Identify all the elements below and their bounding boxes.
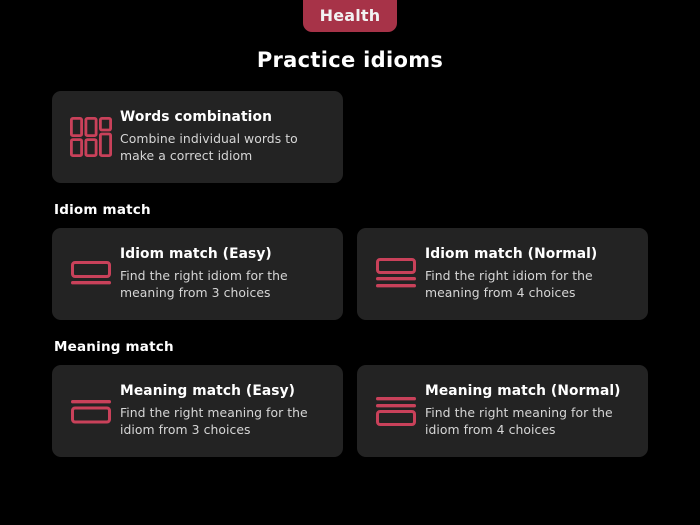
card-meaning-match-normal[interactable]: Meaning match (Normal) Find the right me…: [357, 365, 648, 457]
card-text-block: Meaning match (Normal) Find the right me…: [421, 383, 632, 438]
content-area: Words combination Combine individual wor…: [0, 91, 700, 457]
section-idiom-match: Idiom match Idiom match (Easy) Find the …: [52, 202, 648, 320]
card-grid-words-combination: Words combination Combine individual wor…: [52, 91, 648, 183]
section-heading-meaning-match: Meaning match: [54, 339, 648, 355]
idiom-match-easy-icon: [66, 261, 116, 287]
card-meaning-match-easy[interactable]: Meaning match (Easy) Find the right mean…: [52, 365, 343, 457]
card-text-block: Words combination Combine individual wor…: [116, 109, 327, 164]
card-title: Words combination: [120, 109, 327, 126]
card-idiom-match-normal[interactable]: Idiom match (Normal) Find the right idio…: [357, 228, 648, 320]
section-heading-idiom-match: Idiom match: [54, 202, 648, 218]
card-grid-idiom-match: Idiom match (Easy) Find the right idiom …: [52, 228, 648, 320]
card-title: Meaning match (Easy): [120, 383, 327, 400]
card-title: Idiom match (Easy): [120, 246, 327, 263]
card-description: Find the right meaning for the idiom fro…: [425, 404, 632, 439]
category-badge-row: Health: [0, 0, 700, 32]
card-idiom-match-easy[interactable]: Idiom match (Easy) Find the right idiom …: [52, 228, 343, 320]
idiom-match-normal-icon: [371, 258, 421, 290]
card-description: Find the right meaning for the idiom fro…: [120, 404, 327, 439]
words-grid-icon: [66, 117, 116, 157]
card-title: Meaning match (Normal): [425, 383, 632, 400]
card-text-block: Idiom match (Normal) Find the right idio…: [421, 246, 632, 301]
card-text-block: Meaning match (Easy) Find the right mean…: [116, 383, 327, 438]
card-title: Idiom match (Normal): [425, 246, 632, 263]
category-badge[interactable]: Health: [303, 0, 398, 32]
card-text-block: Idiom match (Easy) Find the right idiom …: [116, 246, 327, 301]
section-meaning-match: Meaning match Meaning match (Easy) Find …: [52, 339, 648, 457]
card-words-combination[interactable]: Words combination Combine individual wor…: [52, 91, 343, 183]
section-words-combination: Words combination Combine individual wor…: [52, 91, 648, 183]
card-description: Find the right idiom for the meaning fro…: [120, 267, 327, 302]
page-title: Practice idioms: [0, 48, 700, 72]
meaning-match-normal-icon: [371, 395, 421, 427]
card-description: Combine individual words to make a corre…: [120, 130, 327, 165]
card-description: Find the right idiom for the meaning fro…: [425, 267, 632, 302]
meaning-match-easy-icon: [66, 398, 116, 424]
card-grid-meaning-match: Meaning match (Easy) Find the right mean…: [52, 365, 648, 457]
